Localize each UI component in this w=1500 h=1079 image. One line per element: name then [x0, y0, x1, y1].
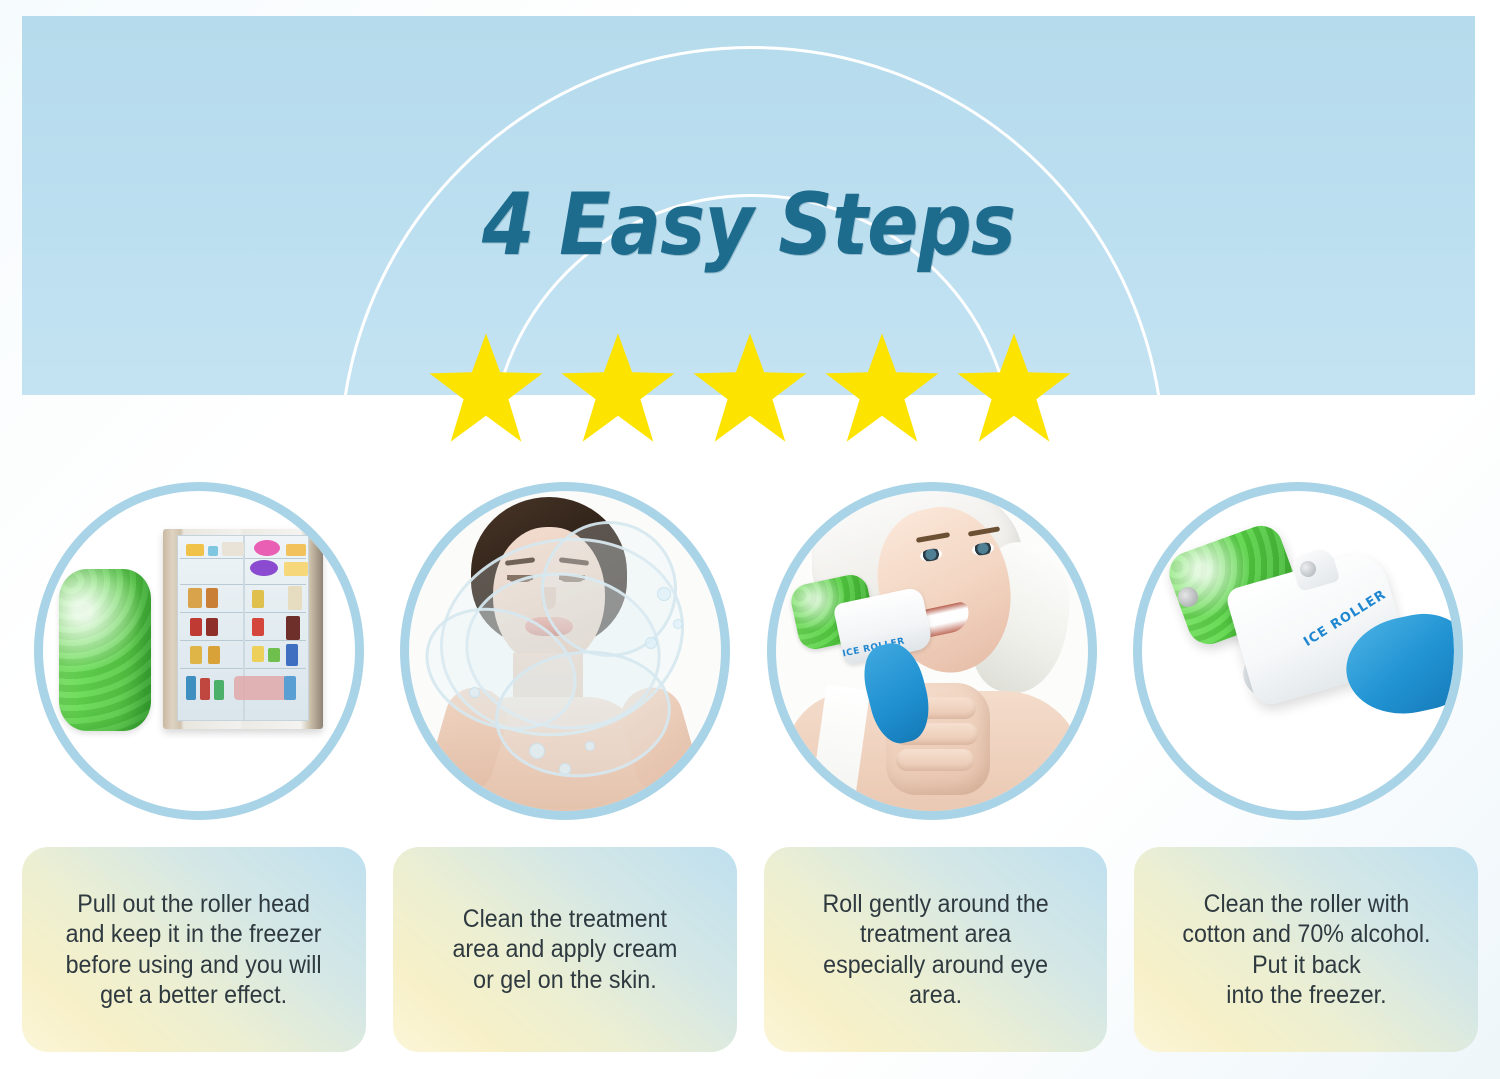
star-rating	[0, 331, 1500, 451]
step-caption-row: Pull out the roller head and keep it in …	[22, 847, 1478, 1052]
step-1-caption-text: Pull out the roller head and keep it in …	[66, 889, 322, 1011]
step-2-caption-text: Clean the treatment area and apply cream…	[452, 904, 677, 996]
page-title: 4 Easy Steps	[109, 182, 1388, 268]
step-4-caption-box: Clean the roller with cotton and 70% alc…	[1134, 847, 1478, 1052]
star-4-icon	[823, 331, 941, 444]
step-2-image	[400, 482, 730, 820]
step-4-caption-text: Clean the roller with cotton and 70% alc…	[1182, 889, 1430, 1011]
step-4-image: ICE ROLLER	[1133, 482, 1463, 820]
star-5-icon	[955, 331, 1073, 444]
star-2-icon	[559, 331, 677, 444]
step-2-ring	[400, 482, 730, 820]
step-1-ring	[34, 482, 364, 820]
step-3-caption-box: Roll gently around the treatment area es…	[764, 847, 1108, 1052]
step-2-caption-box: Clean the treatment area and apply cream…	[393, 847, 737, 1052]
step-3-ring	[767, 482, 1097, 820]
step-3-caption-text: Roll gently around the treatment area es…	[822, 889, 1048, 1011]
step-1-image	[34, 482, 364, 820]
step-image-row: ICE ROLLER ICE ROLLER	[22, 482, 1475, 827]
step-4-ring	[1133, 482, 1463, 820]
star-1-icon	[427, 331, 545, 444]
infographic-page: 4 Easy Steps	[0, 0, 1500, 1079]
step-3-image: ICE ROLLER	[767, 482, 1097, 820]
step-1-caption-box: Pull out the roller head and keep it in …	[22, 847, 366, 1052]
star-3-icon	[691, 331, 809, 444]
